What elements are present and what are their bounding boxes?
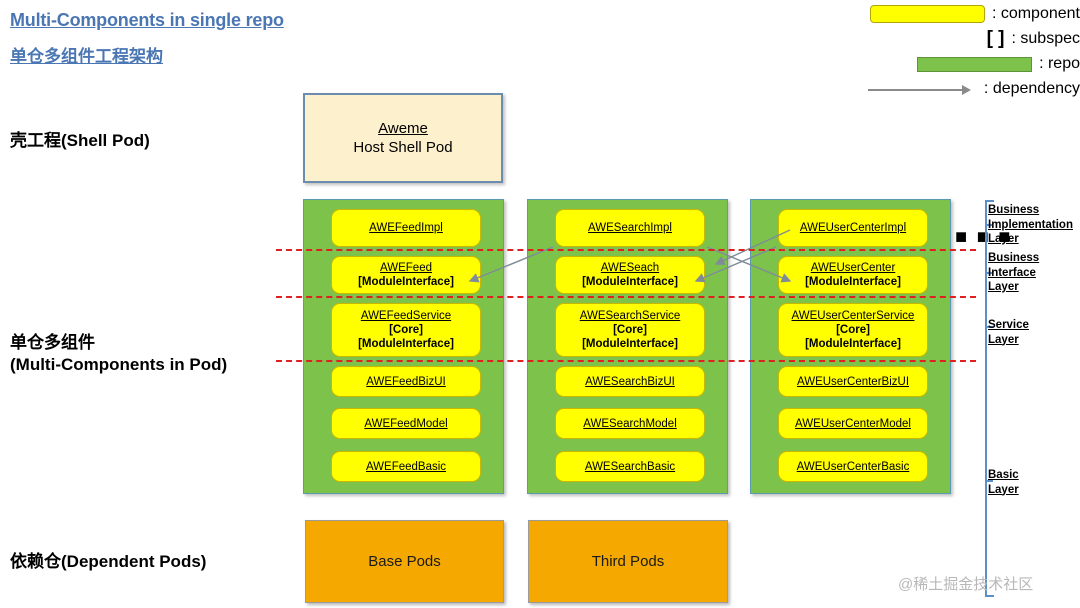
arrow-searchimpl-to-awefeed: [470, 247, 553, 281]
layer-separator: [276, 296, 976, 298]
dependent-pod-label: Base Pods: [368, 553, 441, 570]
layer-bracket-spine: [985, 200, 987, 596]
layer-line: Interface: [988, 266, 1039, 281]
layer-line: Layer: [988, 333, 1029, 348]
layer-bracket-cap-bottom: [985, 595, 994, 597]
layer-line: Service: [988, 318, 1029, 333]
layer-line: Business: [988, 203, 1073, 218]
dependency-arrows: [0, 0, 1080, 608]
dependent-pod-third[interactable]: Third Pods: [528, 520, 728, 603]
layer-line: Implementation: [988, 218, 1073, 233]
layer-label-business-implementation: Business Implementation Layer: [988, 203, 1073, 247]
layer-line: Layer: [988, 483, 1019, 498]
layer-line: Layer: [988, 232, 1073, 247]
layer-line: Business: [988, 251, 1039, 266]
dependent-pod-label: Third Pods: [592, 553, 665, 570]
layer-label-basic: Basic Layer: [988, 468, 1019, 497]
layer-label-business-interface: Business Interface Layer: [988, 251, 1039, 295]
layer-bracket-cap-top: [985, 200, 994, 202]
arrow-usercenterimpl-to-aweseach: [696, 247, 776, 281]
arrow-searchimpl-to-usercenter: [707, 247, 790, 281]
layer-line: Basic: [988, 468, 1019, 483]
diagram-canvas: Multi-Components in single repo 单仓多组件工程架…: [0, 0, 1080, 608]
layer-separator: [276, 360, 976, 362]
arrow-usercenter-cross: [716, 230, 790, 264]
dependent-pod-base[interactable]: Base Pods: [305, 520, 504, 603]
layer-separator: [276, 249, 976, 251]
layer-label-service: Service Layer: [988, 318, 1029, 347]
layer-line: Layer: [988, 280, 1039, 295]
watermark: @稀土掘金技术社区: [898, 573, 1033, 594]
